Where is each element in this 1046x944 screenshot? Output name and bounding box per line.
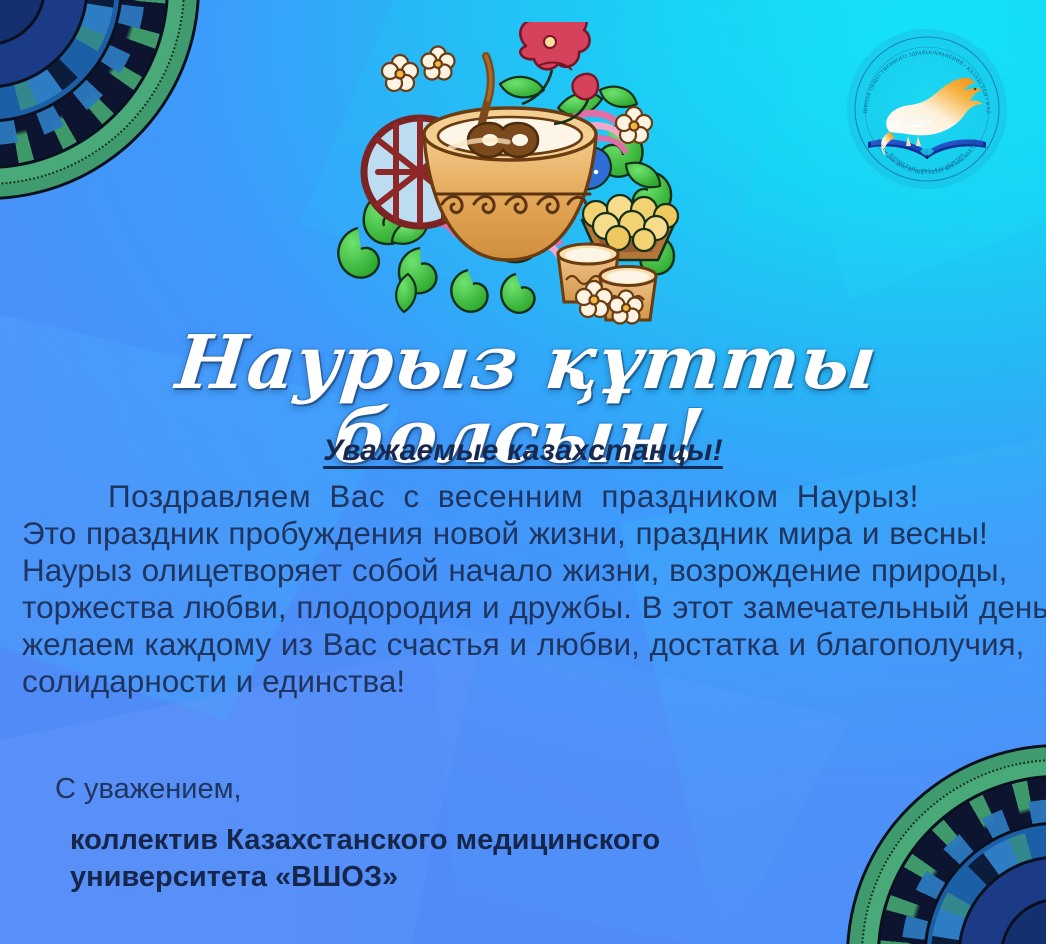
greeting-subtitle: Уважаемые казахстанцы! (0, 434, 1046, 468)
body-line: торжества любви, плодородия и дружбы. В … (22, 589, 1024, 626)
body-line: Наурыз олицетворяет собой начало жизни, … (22, 552, 1024, 589)
body-line: Поздравляем Вас с весенним праздником На… (22, 478, 1024, 515)
signature-block: коллектив Казахстанского медицинского ун… (70, 822, 660, 896)
body-line: солидарности и единства! (22, 663, 1024, 700)
signature-line: университета «ВШОЗ» (70, 859, 660, 896)
signoff-text: С уважением, (55, 772, 242, 806)
body-line: желаем каждому из Вас счастья и любви, д… (22, 626, 1024, 663)
signature-line: коллектив Казахстанского медицинского (70, 822, 660, 859)
greeting-card: ВЫСШАЯ ШКОЛА ОБЩЕСТВЕННОГО ЗДРАВООХРАНЕН… (0, 0, 1046, 944)
text-content: Наурыз құтты болсын! Уважаемые казахстан… (0, 0, 1046, 944)
body-text: Поздравляем Вас с весенним праздником На… (22, 478, 1024, 700)
body-line: Это праздник пробуждения новой жизни, пр… (22, 515, 1024, 552)
